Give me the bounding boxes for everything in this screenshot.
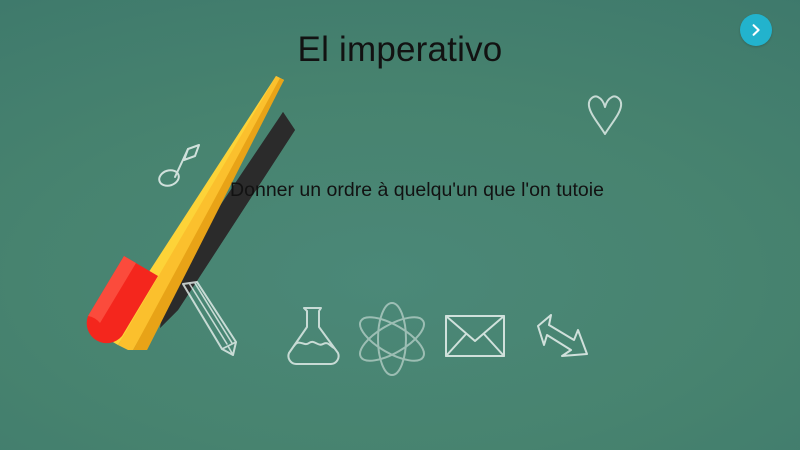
pencil-body bbox=[118, 76, 284, 350]
atom-icon bbox=[355, 300, 429, 378]
music-note-icon bbox=[158, 140, 202, 188]
envelope-icon bbox=[444, 314, 506, 358]
pencil-stripe bbox=[132, 78, 284, 350]
next-slide-button[interactable] bbox=[740, 14, 772, 46]
curved-arrow-icon bbox=[535, 312, 591, 368]
pencil-eraser bbox=[87, 256, 158, 343]
pencil-shadow-body bbox=[160, 112, 295, 328]
page-title: El imperativo bbox=[0, 28, 800, 72]
pencil-eraser-highlight bbox=[88, 256, 136, 323]
slide-body-text: Donner un ordre à quelqu'un que l'on tut… bbox=[212, 174, 622, 206]
pencil-shadow bbox=[160, 112, 295, 328]
slide-canvas: El imperativo Donner un ordre à quelqu'u… bbox=[0, 0, 800, 450]
pencil-body-light bbox=[106, 76, 284, 345]
flask-icon bbox=[285, 305, 343, 365]
chevron-right-icon bbox=[749, 23, 763, 37]
heart-icon bbox=[586, 94, 624, 136]
pencil-icon bbox=[176, 281, 246, 361]
